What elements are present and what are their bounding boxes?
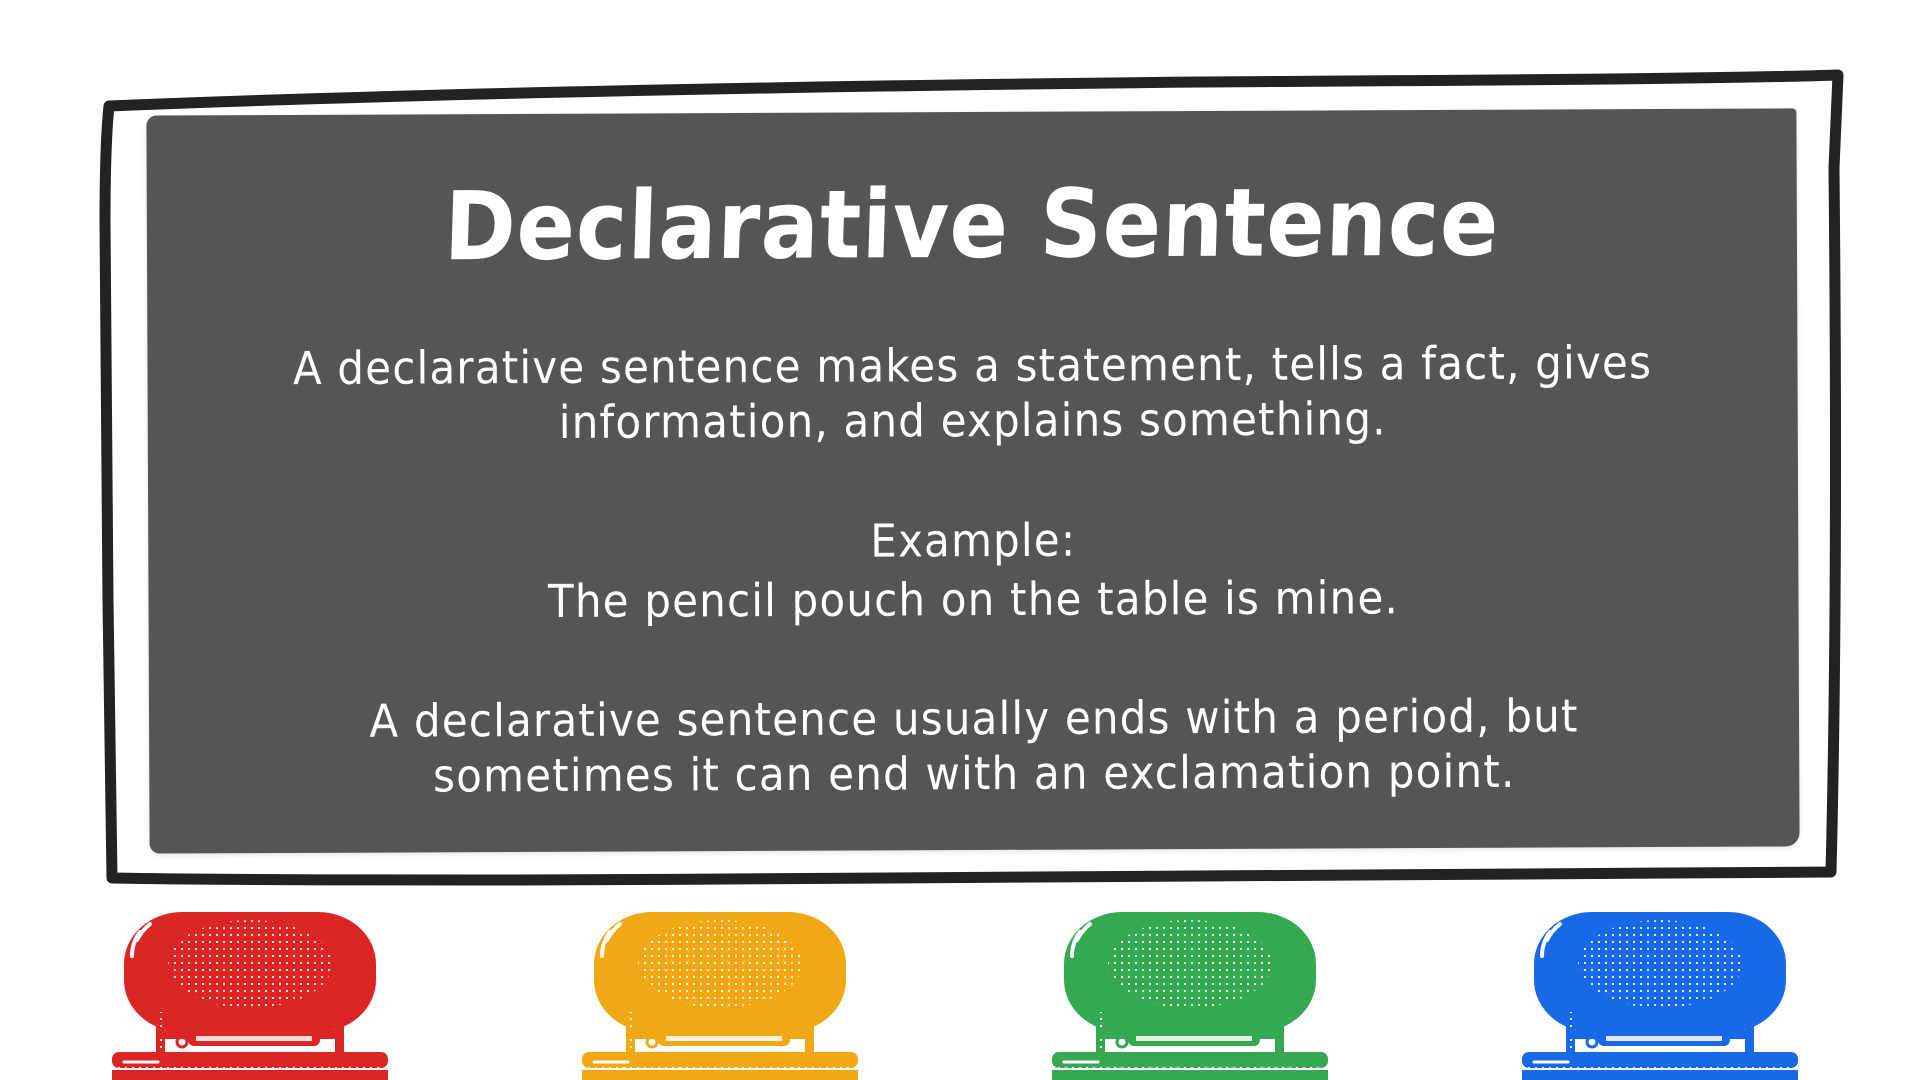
desk-green xyxy=(1050,912,1330,1080)
desk-red xyxy=(110,912,390,1080)
example-sentence: The pencil pouch on the table is mine. xyxy=(243,569,1703,631)
desk-yellow-icon xyxy=(580,912,860,1080)
desk-green-icon xyxy=(1050,912,1330,1080)
desk-yellow xyxy=(580,912,860,1080)
example-label: Example: xyxy=(243,510,1703,572)
lesson-title: Declarative Sentence xyxy=(205,172,1738,278)
desk-row xyxy=(0,912,1920,1080)
desk-red-icon xyxy=(110,912,390,1080)
punctuation-rule-paragraph: A declarative sentence usually ends with… xyxy=(244,688,1704,805)
slide-canvas: Declarative Sentence A declarative sente… xyxy=(0,0,1920,1080)
desk-blue xyxy=(1520,912,1800,1080)
definition-paragraph: A declarative sentence makes a statement… xyxy=(242,335,1702,452)
chalkboard-content: Declarative Sentence A declarative sente… xyxy=(146,108,1799,853)
desk-blue-icon xyxy=(1520,912,1800,1080)
